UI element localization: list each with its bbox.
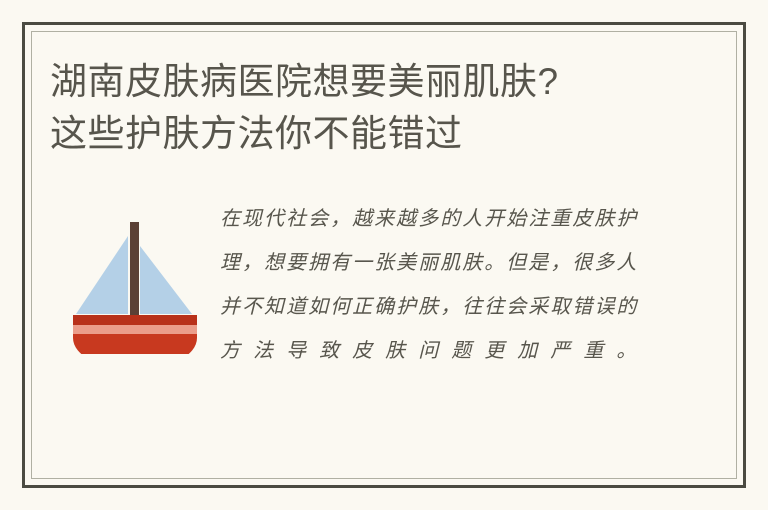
content-row: 在现代社会，越来越多的人开始注重皮肤护理，想要拥有一张美丽肌肤。但是，很多人并不…: [50, 196, 718, 416]
sailboat-icon: [70, 214, 200, 354]
illustration-container: [50, 196, 220, 354]
body-paragraph: 在现代社会，越来越多的人开始注重皮肤护理，想要拥有一张美丽肌肤。但是，很多人并不…: [220, 196, 638, 416]
poster-canvas: 湖南皮肤病医院想要美丽肌肤? 这些护肤方法你不能错过: [0, 0, 768, 510]
page-title: 湖南皮肤病医院想要美丽肌肤? 这些护肤方法你不能错过: [50, 56, 690, 160]
title-line-1: 湖南皮肤病医院想要美丽肌肤?: [50, 56, 690, 108]
title-line-2: 这些护肤方法你不能错过: [50, 108, 690, 160]
